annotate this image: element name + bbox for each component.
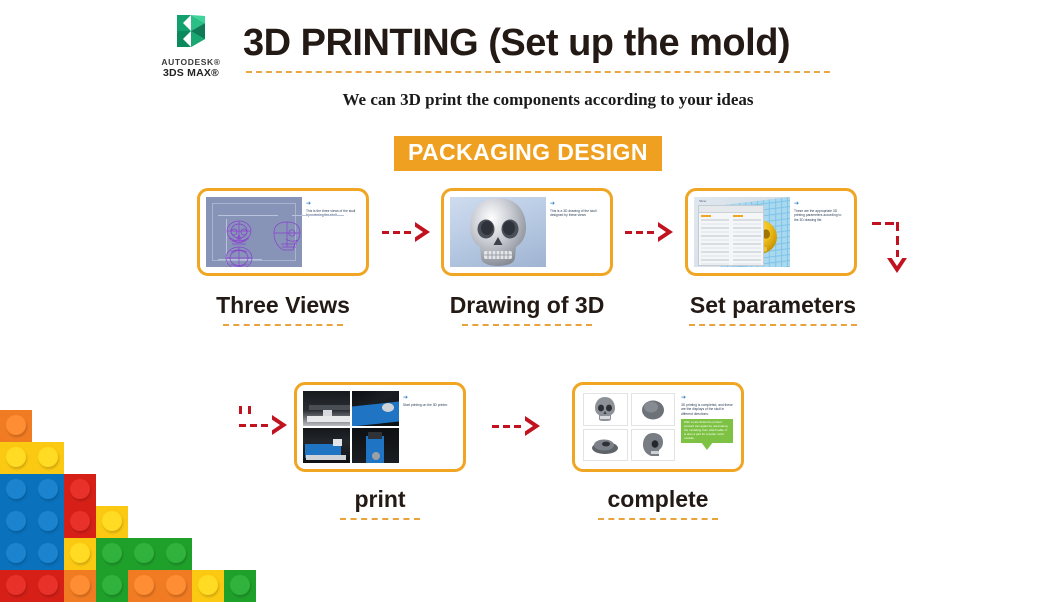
step-note-three-views: ➔ This is the three views of the skull b… xyxy=(302,197,360,267)
grey-3d-skull-render xyxy=(450,197,546,267)
note-text: This is the three views of the skull by … xyxy=(306,209,358,218)
lego-brick xyxy=(64,538,96,570)
lego-stud xyxy=(102,575,122,595)
label-underline xyxy=(340,518,420,520)
lego-stud xyxy=(38,447,58,467)
lego-stud xyxy=(6,575,26,595)
step-note-set-parameters: ➔ These are the appropriate 3D printing … xyxy=(790,197,848,267)
lego-stud xyxy=(70,511,90,531)
lego-brick xyxy=(128,538,192,570)
note-arrow-icon: ➔ xyxy=(403,395,455,401)
logo-product-text: 3DS MAX® xyxy=(163,67,219,79)
lego-brick xyxy=(128,570,192,602)
note-arrow-icon: ➔ xyxy=(306,201,358,207)
label-underline xyxy=(689,324,857,326)
step-card-print[interactable]: ➔ Start printing on the 3D printer. xyxy=(294,382,466,472)
lego-stud xyxy=(38,543,58,563)
printer-photo-2 xyxy=(352,391,399,426)
page-title: 3D PRINTING (Set up the mold) xyxy=(243,22,853,65)
step-label-drawing-of-3d: Drawing of 3D xyxy=(441,292,613,326)
lego-stud xyxy=(70,543,90,563)
lego-brick xyxy=(64,474,96,538)
finished-skull-photos xyxy=(581,391,677,463)
note-text: Start printing on the 3D printer. xyxy=(403,403,455,407)
arrow-parameters-to-print xyxy=(872,216,922,278)
slicer-software-parameters: Slicer xyxy=(694,197,790,267)
note-text: This is a 3D drawing of the skull design… xyxy=(550,209,602,218)
page-subtitle: We can 3D print the components according… xyxy=(243,90,853,110)
lego-brick-staircase xyxy=(0,410,256,602)
note-arrow-icon: ➔ xyxy=(794,201,846,207)
printer-photo-3 xyxy=(303,428,350,463)
note-text: 3D printing is completed, and these are … xyxy=(681,403,733,416)
lego-brick xyxy=(0,474,64,570)
lego-stud xyxy=(6,479,26,499)
label-underline xyxy=(598,518,718,520)
lego-brick xyxy=(96,538,128,570)
note-text: These are the appropriate 3D printing pa… xyxy=(794,209,846,222)
lego-stud xyxy=(38,575,58,595)
lego-brick xyxy=(0,410,32,442)
3d-printer-photos xyxy=(303,391,399,463)
step-label-set-parameters: Set parameters xyxy=(685,292,861,326)
lego-brick xyxy=(224,570,256,602)
step-note-drawing-of-3d: ➔ This is a 3D drawing of the skull desi… xyxy=(546,197,604,267)
note-arrow-icon: ➔ xyxy=(550,201,602,207)
lego-stud xyxy=(102,511,122,531)
lego-stud xyxy=(134,543,154,563)
arrow-print-to-complete xyxy=(492,416,544,438)
autodesk-3ds-max-logo: AUTODESK® 3DS MAX® xyxy=(155,12,227,84)
lego-stud xyxy=(6,511,26,531)
lego-stud xyxy=(134,575,154,595)
printer-photo-4 xyxy=(352,428,399,463)
step-label-three-views: Three Views xyxy=(197,292,369,326)
packaging-design-banner: PACKAGING DESIGN xyxy=(394,136,662,171)
lego-brick xyxy=(0,442,64,474)
lego-stud xyxy=(6,447,26,467)
step-label-complete: complete xyxy=(572,486,744,520)
lego-stud xyxy=(38,511,58,531)
lego-brick xyxy=(0,570,64,602)
lego-brick xyxy=(96,570,128,602)
step-card-set-parameters[interactable]: Slicer xyxy=(685,188,857,276)
step-card-drawing-of-3d[interactable]: ➔ This is a 3D drawing of the skull desi… xyxy=(441,188,613,276)
finished-photo-front xyxy=(583,393,628,426)
lego-brick xyxy=(192,570,224,602)
step-card-complete[interactable]: ➔ 3D printing is completed, and these ar… xyxy=(572,382,744,472)
arrow-three-views-to-drawing xyxy=(382,222,434,244)
label-underline xyxy=(223,324,343,326)
cad-three-view-drawing xyxy=(206,197,302,267)
lego-brick xyxy=(96,506,128,538)
finished-photo-bottom xyxy=(583,429,628,462)
printer-photo-1 xyxy=(303,391,350,426)
lego-stud xyxy=(70,575,90,595)
green-callout-box: With a nice finish the printed product c… xyxy=(681,419,733,442)
lego-stud xyxy=(38,479,58,499)
step-card-three-views[interactable]: ➔ This is the three views of the skull b… xyxy=(197,188,369,276)
logo-brand-text: AUTODESK® xyxy=(161,58,220,67)
parameter-panel xyxy=(698,205,764,266)
note-arrow-icon: ➔ xyxy=(681,395,733,401)
lego-stud xyxy=(6,543,26,563)
step-note-complete: ➔ 3D printing is completed, and these ar… xyxy=(677,391,735,463)
lego-stud xyxy=(166,575,186,595)
lego-stud xyxy=(70,479,90,499)
title-divider xyxy=(246,71,830,73)
lego-stud xyxy=(6,415,26,435)
arrow-drawing-to-parameters xyxy=(625,222,677,244)
lego-stud xyxy=(230,575,250,595)
lego-stud xyxy=(166,543,186,563)
lego-stud xyxy=(102,543,122,563)
step-note-print: ➔ Start printing on the 3D printer. xyxy=(399,391,457,463)
lego-stud xyxy=(198,575,218,595)
finished-photo-side xyxy=(631,429,676,462)
slicer-window-title: Slicer xyxy=(699,199,707,203)
3ds-max-icon xyxy=(169,12,213,56)
lego-brick xyxy=(64,570,96,602)
step-label-print: print xyxy=(294,486,466,520)
finished-photo-back xyxy=(631,393,676,426)
label-underline xyxy=(462,324,592,326)
